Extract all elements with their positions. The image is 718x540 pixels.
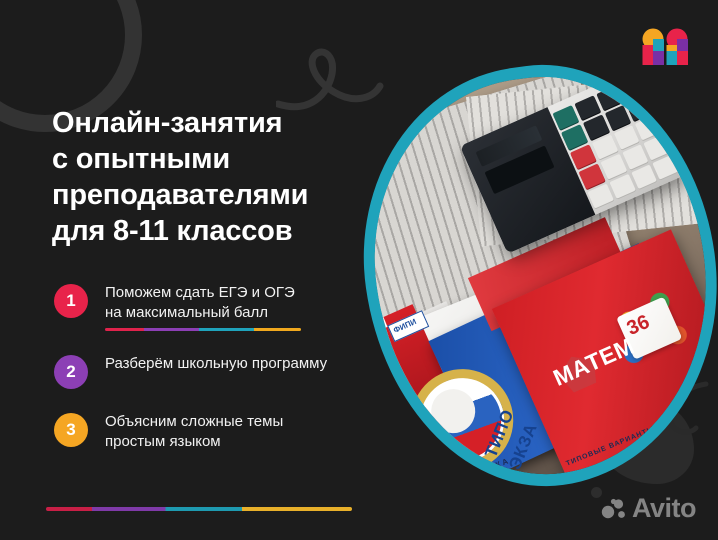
- hero-photo: 36 ФИПИ 2023 ФИЗИКА МАТЕМ ТИПО ЭКЗА ФИЗИ…: [366, 66, 716, 486]
- benefit-content-2: Разберём школьную программу: [105, 353, 327, 374]
- avito-watermark: Avito: [601, 495, 696, 522]
- benefit-badge-2-number: 2: [66, 362, 75, 382]
- benefit-content-1: Поможем сдать ЕГЭ и ОГЭ на максимальный …: [105, 282, 301, 331]
- benefit-badge-1: 1: [54, 284, 88, 318]
- benefit-badge-3: 3: [54, 413, 88, 447]
- promo-poster: 36 ФИПИ 2023 ФИЗИКА МАТЕМ ТИПО ЭКЗА ФИЗИ…: [0, 0, 718, 540]
- benefits-list: 1 Поможем сдать ЕГЭ и ОГЭ на максимальны…: [54, 282, 374, 453]
- benefit-underline-1: [105, 328, 301, 331]
- avito-wordmark: Avito: [632, 495, 696, 522]
- list-item: 3 Объясним сложные темы простым языком: [54, 411, 374, 453]
- photo-clip: 36 ФИПИ 2023 ФИЗИКА МАТЕМ ТИПО ЭКЗА ФИЗИ…: [351, 57, 718, 495]
- list-item: 1 Поможем сдать ЕГЭ и ОГЭ на максимальны…: [54, 282, 374, 331]
- avito-dots-icon: [601, 498, 627, 520]
- benefit-text-1: Поможем сдать ЕГЭ и ОГЭ на максимальный …: [105, 283, 301, 324]
- list-item: 2 Разберём школьную программу: [54, 353, 374, 389]
- benefit-badge-2: 2: [54, 355, 88, 389]
- benefit-badge-1-number: 1: [66, 291, 75, 311]
- accent-bar: [46, 507, 352, 511]
- photo-content: 36 ФИПИ 2023 ФИЗИКА МАТЕМ ТИПО ЭКЗА ФИЗИ…: [353, 57, 718, 495]
- benefit-badge-3-number: 3: [66, 420, 75, 440]
- benefit-text-2: Разберём школьную программу: [105, 354, 327, 374]
- page-title: Онлайн-занятия с опытными преподавателям…: [52, 106, 352, 250]
- benefit-text-3: Объясним сложные темы простым языком: [105, 412, 283, 453]
- benefit-content-3: Объясним сложные темы простым языком: [105, 411, 283, 453]
